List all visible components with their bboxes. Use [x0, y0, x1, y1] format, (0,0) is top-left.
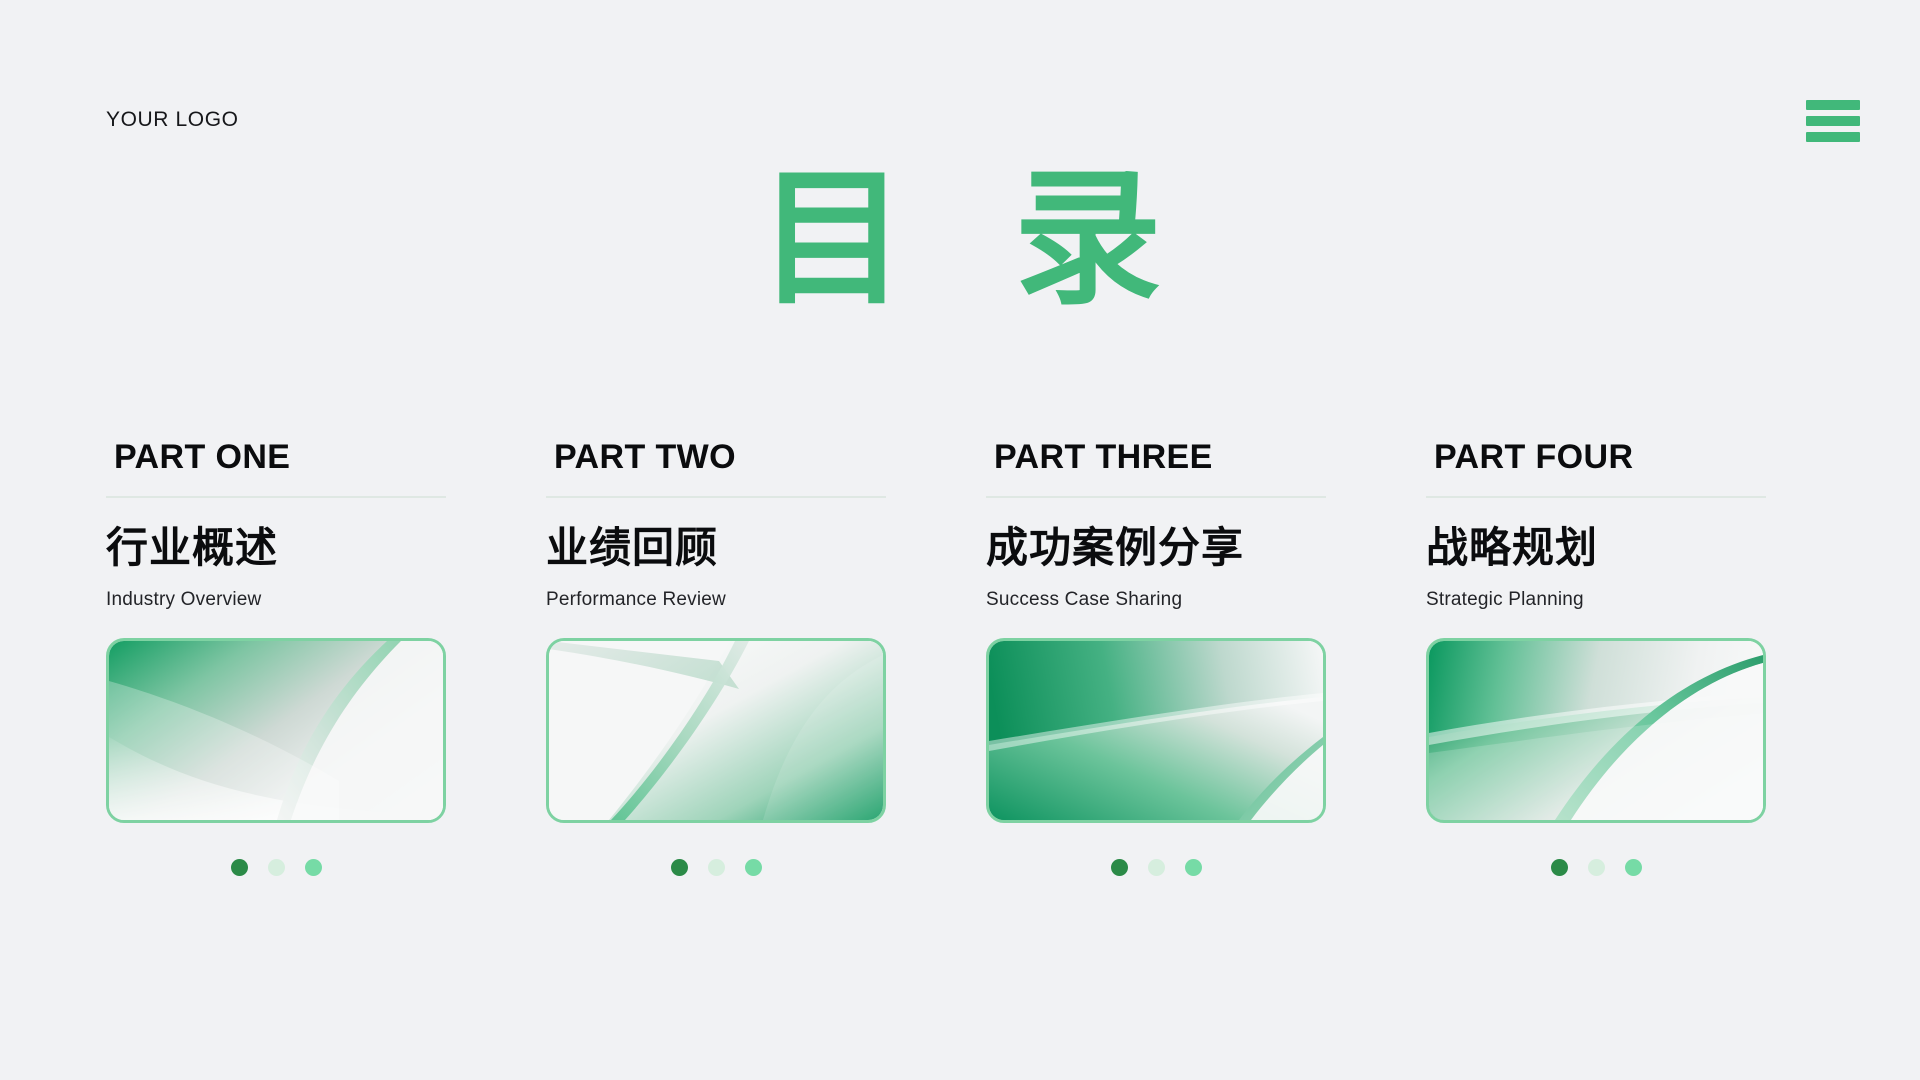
abstract-green-gradient-image-two	[549, 641, 883, 820]
hamburger-menu-icon[interactable]	[1806, 100, 1860, 142]
sections-row: PART ONE 行业概述 Industry Overview	[0, 440, 1920, 960]
section-dots-four[interactable]	[1426, 859, 1766, 876]
dot-pale-three[interactable]	[1148, 859, 1165, 876]
part-label-one: PART ONE	[114, 440, 446, 474]
section-subtitle-en-three: Success Case Sharing	[986, 589, 1326, 611]
dot-pale-two[interactable]	[708, 859, 725, 876]
abstract-green-gradient-image-three	[989, 641, 1323, 820]
dot-mid-four[interactable]	[1625, 859, 1642, 876]
section-dots-three[interactable]	[986, 859, 1326, 876]
section-divider-two	[546, 496, 886, 498]
section-title-cn-two: 业绩回顾	[546, 524, 886, 571]
abstract-green-gradient-image-one	[109, 641, 443, 820]
section-title-cn-four: 战略规划	[1426, 524, 1766, 571]
hamburger-bar-1	[1806, 100, 1860, 110]
abstract-green-gradient-image-four	[1429, 641, 1763, 820]
section-divider-four	[1426, 496, 1766, 498]
dot-active-one[interactable]	[231, 859, 248, 876]
dot-mid-two[interactable]	[745, 859, 762, 876]
dot-pale-one[interactable]	[268, 859, 285, 876]
part-label-three: PART THREE	[994, 440, 1326, 474]
dot-active-two[interactable]	[671, 859, 688, 876]
section-image-card-one[interactable]	[106, 638, 446, 823]
dot-mid-three[interactable]	[1185, 859, 1202, 876]
section-subtitle-en-four: Strategic Planning	[1426, 589, 1766, 611]
page-title: 目 录	[0, 160, 1920, 320]
section-divider-one	[106, 496, 446, 498]
hamburger-bar-3	[1806, 132, 1860, 142]
section-dots-two[interactable]	[546, 859, 886, 876]
section-image-card-two[interactable]	[546, 638, 886, 823]
section-title-cn-three: 成功案例分享	[986, 524, 1326, 571]
title-block: 目 录	[0, 160, 1920, 320]
section-subtitle-en-one: Industry Overview	[106, 589, 446, 611]
section-column-two[interactable]: PART TWO 业绩回顾 Performance Review	[546, 440, 986, 960]
section-subtitle-en-two: Performance Review	[546, 589, 886, 611]
slide-root: YOUR LOGO 目 录 PART ONE 行业概述 Industry Ove…	[0, 0, 1920, 1080]
dot-mid-one[interactable]	[305, 859, 322, 876]
section-column-four[interactable]: PART FOUR 战略规划 Strategic Planning	[1426, 440, 1866, 960]
section-image-card-four[interactable]	[1426, 638, 1766, 823]
section-column-one[interactable]: PART ONE 行业概述 Industry Overview	[106, 440, 546, 960]
logo-text: YOUR LOGO	[106, 108, 239, 132]
part-label-two: PART TWO	[554, 440, 886, 474]
section-divider-three	[986, 496, 1326, 498]
section-column-three[interactable]: PART THREE 成功案例分享 Success Case Sharing	[986, 440, 1426, 960]
section-title-cn-one: 行业概述	[106, 524, 446, 571]
section-dots-one[interactable]	[106, 859, 446, 876]
hamburger-bar-2	[1806, 116, 1860, 126]
part-label-four: PART FOUR	[1434, 440, 1766, 474]
dot-active-three[interactable]	[1111, 859, 1128, 876]
dot-pale-four[interactable]	[1588, 859, 1605, 876]
section-image-card-three[interactable]	[986, 638, 1326, 823]
dot-active-four[interactable]	[1551, 859, 1568, 876]
